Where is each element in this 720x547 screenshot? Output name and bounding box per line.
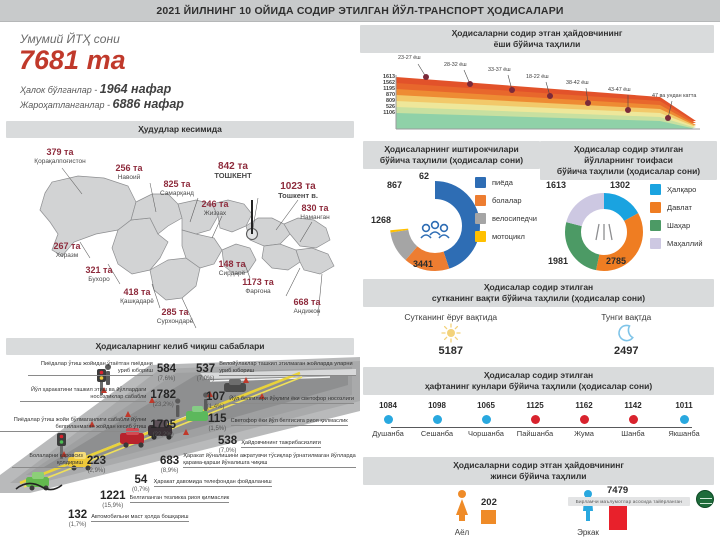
week-day: Чоршанба <box>461 429 511 438</box>
cause-text: Йўл белгилари йўқлиги ёки светофор носоз… <box>229 396 354 404</box>
roadtype-value: 1613 <box>546 180 566 190</box>
cause-item: Болаларни қаровсиз қолдириш 223 (2,9%) <box>12 451 106 474</box>
week-day: Пайшанба <box>510 429 560 438</box>
region-value: 1023 та <box>262 182 334 191</box>
region-value: 246 та <box>186 200 244 209</box>
sun-icon <box>441 323 461 343</box>
donuts-row: Ҳодисаларнинг иштирокчилари бўйича таҳли… <box>360 141 720 279</box>
cause-text: Ҳаракат йўналишини ажратувчи тўсиқлар ўр… <box>183 453 356 467</box>
participants-panel: Ҳодисаларнинг иштирокчилари бўйича таҳли… <box>360 141 540 279</box>
region-label: 321 та Бухоро <box>68 266 130 284</box>
participants-value: 3441 <box>413 259 433 269</box>
female-icon <box>451 489 473 523</box>
region-name: Сурхондарё <box>140 317 210 326</box>
week-day: Шанба <box>608 429 658 438</box>
age-title-line2: ёши бўйича таҳлили <box>364 39 710 50</box>
legend-swatch <box>475 213 486 224</box>
legend-item: болалар <box>475 195 537 206</box>
night-block: Тунги вақтда 2497 <box>539 307 715 367</box>
cause-number: 132 <box>68 509 87 521</box>
gender-title-line2: жинси бўйича таҳлили <box>367 471 710 482</box>
legend-item: Ҳалқаро <box>650 184 703 195</box>
region-label: 842 та ТОШКЕНТ <box>200 162 266 180</box>
moon-icon <box>616 323 636 343</box>
cause-percent: (7,0%) <box>196 376 215 382</box>
week-day: Якшанба <box>659 429 709 438</box>
cause-number: 115 <box>208 413 227 425</box>
age-category-label: 18-22 ёш <box>526 74 549 80</box>
region-name: Хоразм <box>36 251 98 260</box>
legend-label: Шаҳар <box>667 221 690 230</box>
female-label: Аёл <box>451 528 473 537</box>
week-day: Сешанба <box>412 429 462 438</box>
age-category-label: 43-47 ёш <box>608 87 631 93</box>
region-label: 668 та Андижон <box>276 298 338 316</box>
week-panel: Ҳодисалар содир этилган ҳафтанинг кунлар… <box>360 367 720 457</box>
age-category-label: 47 ва ундан катта <box>652 93 700 100</box>
region-label: 418 та Қашқадарё <box>104 288 170 306</box>
injured-label: Жароҳатланганлар - <box>20 100 110 110</box>
daynight-title-line2: сутканинг вақти бўйича таҳлили (ҳодисала… <box>367 293 710 304</box>
legend-swatch <box>475 231 486 242</box>
week-title: Ҳодисалар содир этилган ҳафтанинг кунлар… <box>363 367 714 395</box>
organization-badge-icon <box>696 490 714 508</box>
region-name: Фарғона <box>226 287 290 296</box>
week-title-line1: Ҳодисалар содир этилган <box>367 370 710 381</box>
roadtype-title-line3: бўйича таҳлили (ҳодисалар сони) <box>544 166 713 177</box>
legend-item: Маҳаллий <box>650 238 703 249</box>
injured-row: Жароҳатланганлар - 6886 нафар <box>20 97 360 111</box>
region-name: Самарқанд <box>144 189 210 198</box>
week-point: 1084 Душанба <box>363 401 413 438</box>
region-value: 285 та <box>140 308 210 317</box>
participants-value: 1268 <box>371 215 391 225</box>
participants-value: 867 <box>387 180 402 190</box>
legend-label: пиёда <box>492 178 513 187</box>
region-label: 285 та Сурхондарё <box>140 308 210 326</box>
map-title: Ҳудудлар кесимида <box>6 121 354 138</box>
week-value: 1084 <box>363 401 413 410</box>
cause-item: Йўл ҳаракатини ташкил этиш ва йўллардаги… <box>20 385 176 408</box>
cause-text: Ҳайдовчининг тажрибасизлиги <box>241 440 321 448</box>
legend-label: мотоцикл <box>492 232 525 241</box>
dead-label: Ҳалок бўлганлар - <box>20 85 97 95</box>
causes-title: Ҳодисаларнинг келиб чиқиш сабаблари <box>6 338 354 355</box>
legend-label: Давлат <box>667 203 692 212</box>
legend-item: Шаҳар <box>650 220 703 231</box>
male-bar-block: 7479 <box>607 485 628 530</box>
gender-title: Ҳодисаларни содир этган ҳайдовчининг жин… <box>363 457 714 485</box>
week-dot <box>531 415 540 424</box>
cause-text: Велойўлаклар ташкил этилмаган жойларда у… <box>219 361 356 375</box>
cause-number: 584 <box>157 363 176 375</box>
region-name: Наманган <box>282 213 348 222</box>
page-title: 2021 ЙИЛНИНГ 10 ОЙИДА СОДИР ЭТИЛГАН ЙЎЛ-… <box>156 5 563 17</box>
cause-number: 107 <box>206 391 225 403</box>
cause-item: Пиёдалар ўтиш жойи бўлмаганлиги сабабли … <box>0 415 176 438</box>
region-label: 1023 та Тошкент в. <box>262 182 334 200</box>
week-value: 1142 <box>608 401 658 410</box>
cause-percent: (23,2%) <box>150 402 176 408</box>
daynight-title: Ҳодисалар содир этилган сутканинг вақти … <box>363 279 714 307</box>
cause-number: 1221 <box>100 490 126 502</box>
week-dot <box>580 415 589 424</box>
legend-label: Маҳаллий <box>667 239 703 248</box>
total-value: 7681 та <box>19 45 360 76</box>
cause-item: 132 (1,7%) Автомобильни маст ҳолда бошқа… <box>68 505 268 528</box>
female-block: Аёл <box>451 489 473 537</box>
night-value: 2497 <box>539 345 715 357</box>
infographic-page: 2021 ЙИЛНИНГ 10 ОЙИДА СОДИР ЭТИЛГАН ЙЎЛ-… <box>0 0 720 510</box>
participants-title: Ҳодисаларнинг иштирокчилари бўйича таҳли… <box>363 141 540 169</box>
week-point: 1098 Сешанба <box>412 401 462 438</box>
week-title-line2: ҳафтанинг кунлари бўйича таҳлили (ҳодиса… <box>367 381 710 392</box>
legend-label: велосипедчи <box>492 214 537 223</box>
region-name: Қашқадарё <box>104 297 170 306</box>
cause-number: 1705 <box>150 419 176 431</box>
legend-item: мотоцикл <box>475 231 537 242</box>
cause-number: 538 <box>218 435 237 447</box>
cause-item: 537 (7,0%) Велойўлаклар ташкил этилмаган… <box>196 359 356 382</box>
cause-percent: (22,2%) <box>150 432 176 438</box>
region-name: ТОШКЕНТ <box>200 171 266 180</box>
roadtype-title: Ҳодисалар содир этилган йўлларнинг тоифа… <box>540 141 717 180</box>
cause-percent: (2,9%) <box>87 468 106 474</box>
week-dot <box>680 415 689 424</box>
injured-value: 6886 нафар <box>113 97 184 111</box>
region-value: 668 та <box>276 298 338 307</box>
age-chart: 1613 1562 1195 870 809 526 1106 23-27 ёш… <box>360 53 714 141</box>
age-category-label: 38-42 ёш <box>566 80 589 86</box>
total-label: Умумий ЙТҲ сони <box>20 32 360 46</box>
female-bar <box>481 510 496 524</box>
roadtype-donut: 1613 1302 1981 2785 Ҳалқаро Давлат Шаҳар… <box>540 180 717 278</box>
region-value: 842 та <box>200 162 266 171</box>
age-category-label: 33-37 ёш <box>488 67 511 73</box>
legend-swatch <box>650 202 661 213</box>
age-category-label: 23-27 ёш <box>398 55 421 61</box>
age-title-line1: Ҳодисаларни содир этган ҳайдовчининг <box>364 28 710 39</box>
participants-donut: 62 867 1268 3441 пиёда болалар велосипед… <box>363 169 540 279</box>
cause-text: Болаларни қаровсиз қолдириш <box>12 453 83 467</box>
region-label: 825 та Самарқанд <box>144 180 210 198</box>
week-chart: 1084 Душанба 1098 Сешанба 1065 Чоршанба <box>363 395 714 457</box>
legend-swatch <box>475 195 486 206</box>
cause-text: Йўл ҳаракатини ташкил этиш ва йўллардаги… <box>20 387 146 401</box>
roadtype-title-line2: йўлларнинг тоифаси <box>544 155 713 166</box>
roadtype-value: 2785 <box>606 256 626 266</box>
region-value: 379 та <box>0 148 120 157</box>
legend-label: болалар <box>492 196 522 205</box>
dead-value: 1964 нафар <box>100 82 171 96</box>
map-section: Ҳудудлар кесимида <box>0 121 360 336</box>
male-icon <box>577 489 599 523</box>
region-label: 830 та Наманган <box>282 204 348 222</box>
roadtype-donut-svg <box>554 188 654 276</box>
week-dot <box>384 415 393 424</box>
region-name: Тошкент в. <box>262 191 334 200</box>
week-dot <box>433 415 442 424</box>
roadtype-title-line1: Ҳодисалар содир этилган <box>544 144 713 155</box>
footer-note: Бирламчи маълумотлар асосида тайёрланган <box>568 497 690 506</box>
participants-title-line2: бўйича таҳлили (ҳодисалар сони) <box>367 155 536 166</box>
region-value: 825 та <box>144 180 210 189</box>
right-column: Ҳодисаларни содир этган ҳайдовчининг ёши… <box>360 22 720 510</box>
week-value: 1125 <box>510 401 560 410</box>
week-value: 1011 <box>659 401 709 410</box>
cause-number: 223 <box>87 455 106 467</box>
legend-item: Давлат <box>650 202 703 213</box>
legend-item: велосипедчи <box>475 213 537 224</box>
week-point: 1065 Чоршанба <box>461 401 511 438</box>
age-axis-value: 1106 <box>365 110 395 116</box>
region-label: 267 та Хоразм <box>36 242 98 260</box>
legend-label: Ҳалқаро <box>667 185 696 194</box>
cause-number: 54 <box>134 474 147 486</box>
legend-swatch <box>650 220 661 231</box>
week-value: 1065 <box>461 401 511 410</box>
day-label: Сутканинг ёруғ вақтида <box>363 312 539 322</box>
region-name: Андижон <box>276 307 338 316</box>
night-label: Тунги вақтда <box>539 312 715 322</box>
legend-swatch <box>650 238 661 249</box>
region-label: 246 та Жиззах <box>186 200 244 218</box>
cause-text: Автомобильни маст ҳолда бошқариш <box>91 514 188 522</box>
week-day: Душанба <box>363 429 413 438</box>
region-label: 148 та Сирдарё <box>202 260 262 278</box>
week-point: 1162 Жума <box>559 401 609 438</box>
participants-legend: пиёда болалар велосипедчи мотоцикл <box>475 177 537 249</box>
page-header: 2021 ЙИЛНИНГ 10 ОЙИДА СОДИР ЭТИЛГАН ЙЎЛ-… <box>0 0 720 22</box>
region-value: 418 та <box>104 288 170 297</box>
cause-percent: (7,6%) <box>157 376 176 382</box>
week-point: 1125 Пайшанба <box>510 401 560 438</box>
week-value: 1098 <box>412 401 462 410</box>
map-area: 379 та Қорақалпоғистон 256 та Навоий 825… <box>0 138 360 336</box>
causes-area: Пиёдалар ўтиш жойидан ўтаётган пиёдани у… <box>0 355 360 500</box>
cause-percent: (1,7%) <box>68 522 87 528</box>
legend-swatch <box>475 177 486 188</box>
region-value: 148 та <box>202 260 262 269</box>
week-dot <box>482 415 491 424</box>
region-value: 830 та <box>282 204 348 213</box>
week-value: 1162 <box>559 401 609 410</box>
daynight-panel: Ҳодисалар содир этилган сутканинг вақти … <box>360 279 720 367</box>
causes-section: Ҳодисаларнинг келиб чиқиш сабаблари <box>0 338 360 500</box>
daynight-title-line1: Ҳодисалар содир этилган <box>367 282 710 293</box>
cause-item: Пиёдалар ўтиш жойидан ўтаётган пиёдани у… <box>28 359 176 382</box>
region-name: Жиззах <box>186 209 244 218</box>
age-panel: Ҳодисаларни содир этган ҳайдовчининг ёши… <box>360 22 720 141</box>
region-label: 1173 та Фарғона <box>226 278 290 296</box>
male-label: Эркак <box>577 528 599 537</box>
cause-item: 107 (1,4%) Йўл белгилари йўқлиги ёки све… <box>206 387 356 410</box>
cause-text: Светофор ёки йўл белгисига риоя қилмасли… <box>231 418 348 426</box>
roadtype-panel: Ҳодисалар содир этилган йўлларнинг тоифа… <box>540 141 720 279</box>
participants-title-line1: Ҳодисаларнинг иштирокчилари <box>367 144 536 155</box>
cause-item: 115 (1,5%) Светофор ёки йўл белгисига ри… <box>208 409 356 432</box>
dead-row: Ҳалок бўлганлар - 1964 нафар <box>20 82 360 96</box>
summary-block: Умумий ЙТҲ сони 7681 та Ҳалок бўлганлар … <box>0 22 360 115</box>
female-bar-block: 202 <box>481 497 497 524</box>
female-value: 202 <box>481 497 497 508</box>
day-value: 5187 <box>363 345 539 357</box>
gender-title-line1: Ҳодисаларни содир этган ҳайдовчининг <box>367 460 710 471</box>
week-day: Жума <box>559 429 609 438</box>
week-point: 1142 Шанба <box>608 401 658 438</box>
daynight-body: Сутканинг ёруғ вақтида 5187 <box>363 307 714 367</box>
left-column: Умумий ЙТҲ сони 7681 та Ҳалок бўлганлар … <box>0 22 360 510</box>
roadtype-legend: Ҳалқаро Давлат Шаҳар Маҳаллий <box>650 184 703 256</box>
age-chart-title: Ҳодисаларни содир этган ҳайдовчининг ёши… <box>360 25 714 53</box>
cause-text: Пиёдалар ўтиш жойидан ўтаётган пиёдани у… <box>28 361 153 375</box>
week-point: 1011 Якшанба <box>659 401 709 438</box>
male-value: 7479 <box>607 485 628 496</box>
region-value: 267 та <box>36 242 98 251</box>
cause-number: 537 <box>196 363 215 375</box>
cause-number: 1782 <box>150 389 176 401</box>
legend-item: пиёда <box>475 177 537 188</box>
roadtype-value: 1981 <box>548 256 568 266</box>
legend-swatch <box>650 184 661 195</box>
region-value: 1173 та <box>226 278 290 287</box>
region-name: Бухоро <box>68 275 130 284</box>
region-value: 321 та <box>68 266 130 275</box>
week-dot <box>629 415 638 424</box>
age-category-label: 28-32 ёш <box>444 62 467 68</box>
cause-text: Пиёдалар ўтиш жойи бўлмаганлиги сабабли … <box>0 417 146 431</box>
cause-text: Белгиланган тезликка риоя қилмаслик <box>130 495 230 503</box>
participants-value: 62 <box>419 171 429 181</box>
day-block: Сутканинг ёруғ вақтида 5187 <box>363 307 539 367</box>
gender-chart: Аёл 202 Эркак 7479 <box>363 485 714 547</box>
region-value: 256 та <box>96 164 162 173</box>
cause-number: 683 <box>160 455 179 467</box>
roadtype-value: 1302 <box>610 180 630 190</box>
